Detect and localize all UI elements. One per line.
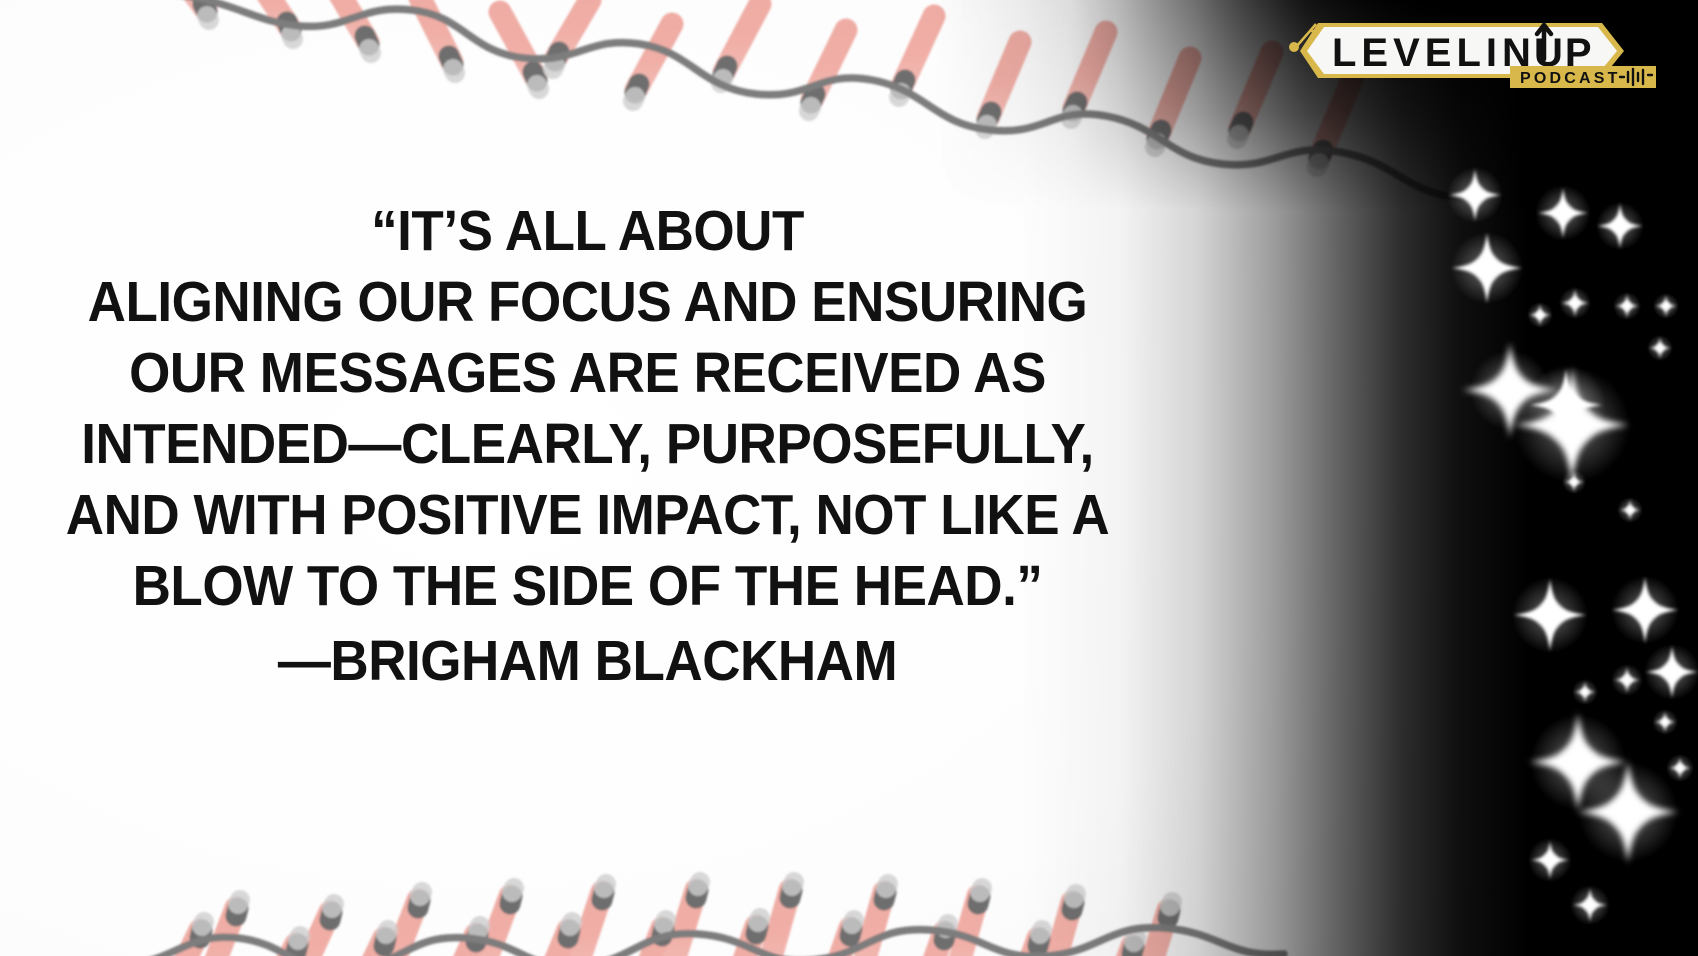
- quote-line-4: INTENDED—CLEARLY, PURPOSEFULLY,: [41, 409, 1134, 480]
- quote-line-2: ALIGNING OUR FOCUS AND ENSURING: [41, 267, 1134, 338]
- quote-line-1: “IT’S ALL ABOUT: [41, 196, 1134, 267]
- quote-slide: “IT’S ALL ABOUT ALIGNING OUR FOCUS AND E…: [0, 0, 1698, 956]
- quote-line-3: OUR MESSAGES ARE RECEIVED AS: [41, 338, 1134, 409]
- quote-block: “IT’S ALL ABOUT ALIGNING OUR FOCUS AND E…: [0, 196, 1175, 700]
- quote-line-5: AND WITH POSITIVE IMPACT, NOT LIKE A: [41, 480, 1134, 551]
- levelin-up-podcast-logo[interactable]: LEVELIN' UP PODCAST: [1272, 4, 1690, 92]
- quote-attribution: —BRIGHAM BLACKHAM: [41, 622, 1134, 700]
- circuit-node-left-icon: [1289, 42, 1299, 52]
- logo-subtitle: PODCAST: [1520, 70, 1621, 87]
- quote-line-6: BLOW TO THE SIDE OF THE HEAD.”: [41, 551, 1134, 622]
